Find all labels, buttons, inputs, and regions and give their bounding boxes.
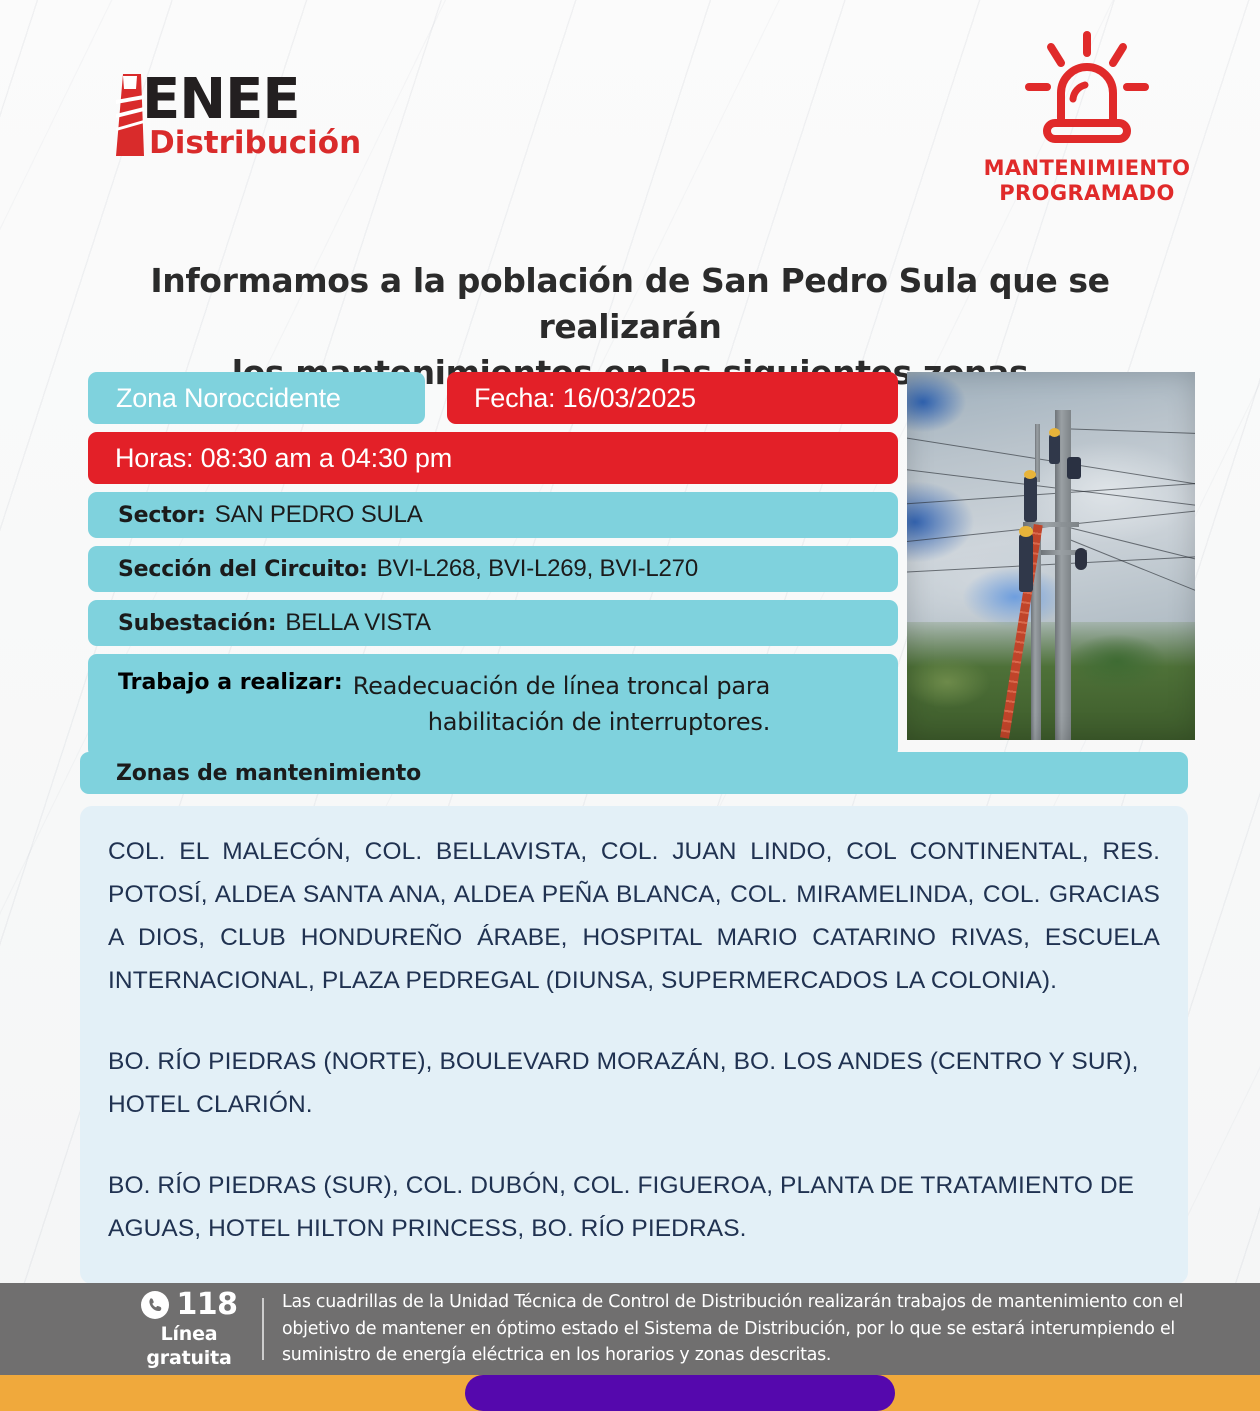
hours-row: Horas: 08:30 am a 04:30 pm [88,432,898,484]
footer-phone-caption: Línea gratuita [120,1322,258,1370]
alert-caption-line1: MANTENIMIENTO [962,156,1212,181]
info-rows: Zona Noroccidente Fecha: 16/03/2025 Hora… [88,372,898,766]
circuit-label: Sección del Circuito: [118,557,368,582]
substation-value: BELLA VISTA [285,609,430,637]
substation-row: Subestación: BELLA VISTA [88,600,898,646]
zone-date-row: Zona Noroccidente Fecha: 16/03/2025 [88,372,898,424]
bottom-bar-purple-segment [465,1375,895,1411]
footer-phone-line: 118 [120,1289,258,1321]
zones-section-header: Zonas de mantenimiento [80,752,1188,794]
substation-label: Subestación: [118,611,276,636]
maintenance-notice-poster: ENEE Distribución MANTENIMIENTO PROGRAMA… [0,0,1260,1411]
linemen-working-on-utility-pole-photo [907,372,1195,740]
zones-panel: COL. EL MALECÓN, COL. BELLAVISTA, COL. J… [80,806,1188,1284]
alert-block: MANTENIMIENTO PROGRAMADO [962,26,1212,206]
footer-divider [262,1298,264,1360]
sector-row: Sector: SAN PEDRO SULA [88,492,898,538]
alert-caption-line2: PROGRAMADO [962,181,1212,206]
phone-handset-icon [140,1290,170,1320]
logo-enee-text: ENEE [142,72,300,128]
footer-phone-block: 118 Línea gratuita [0,1289,258,1370]
headline-line-1: Informamos a la población de San Pedro S… [60,258,1200,350]
footer-disclaimer: Las cuadrillas de la Unidad Técnica de C… [282,1289,1260,1369]
work-value-line1: Readecuación de línea troncal para [353,672,770,700]
zones-paragraph-1: COL. EL MALECÓN, COL. BELLAVISTA, COL. J… [108,830,1160,1002]
work-label: Trabajo a realizar: [118,668,343,695]
enee-logo: ENEE Distribución [110,72,530,172]
sector-value: SAN PEDRO SULA [215,501,423,529]
work-value-line2: habilitación de interruptores. [428,708,770,736]
zones-paragraph-2: BO. RÍO PIEDRAS (NORTE), BOULEVARD MORAZ… [108,1040,1160,1126]
sector-label: Sector: [118,503,206,528]
bottom-color-bar [0,1375,1260,1411]
circuit-value: BVI-L268, BVI-L269, BVI-L270 [377,555,698,583]
zones-paragraph-3: BO. RÍO PIEDRAS (SUR), COL. DUBÓN, COL. … [108,1164,1160,1250]
footer-phone-number[interactable]: 118 [176,1289,237,1321]
zone-badge: Zona Noroccidente [88,372,425,424]
work-row: Trabajo a realizar: Readecuación de líne… [88,654,898,758]
work-value: Readecuación de línea troncal para habil… [353,668,770,740]
circuit-row: Sección del Circuito: BVI-L268, BVI-L269… [88,546,898,592]
siren-beacon-icon [962,26,1212,156]
date-badge: Fecha: 16/03/2025 [447,372,898,424]
photo-vignette [907,372,1195,740]
footer: 118 Línea gratuita Las cuadrillas de la … [0,1283,1260,1375]
logo-distribucion-text: Distribución [149,126,361,160]
